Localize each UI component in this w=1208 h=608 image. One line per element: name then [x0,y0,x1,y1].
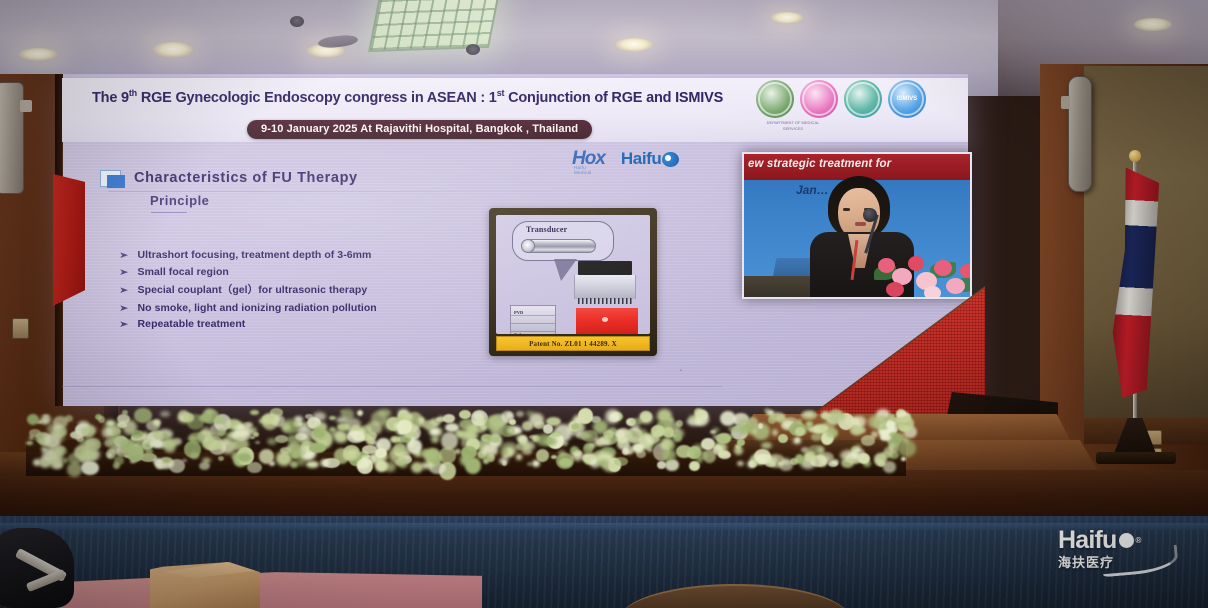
hedge-tuft [218,428,226,436]
gel-sample-block: PVD Gel [510,305,556,334]
hox-logo-subtext: Haifu Medical [574,165,605,175]
hedge-tuft [267,438,277,445]
downlight-5 [770,12,804,24]
bullet-arrow-icon: ➤ [119,320,129,329]
hedge-tuft [63,458,68,462]
hedge-tuft [823,421,834,430]
hedge-tuft [826,428,838,437]
hedge-tuft [189,432,205,444]
hedge-tuft [490,436,501,444]
list-item: ➤Ultrashort focusing, treatment depth of… [120,249,500,261]
gel-label-top: PVD [514,310,523,315]
bullet-arrow-icon: ➤ [119,251,129,260]
hedge-tuft [716,433,732,445]
hedge-tuft [459,410,470,419]
hedge-tuft [218,456,225,461]
bullet-text: Repeatable treatment [138,318,246,330]
hedge-tuft [516,411,524,417]
hedge-tuft [183,413,194,422]
hedge-tuft [768,416,776,424]
list-item: ➤Repeatable treatment [120,318,500,330]
hedge-tuft [614,457,628,466]
ceiling-vent-1 [290,16,304,27]
live-video-feed-panel: ew strategic treatment for Jan… – 10, 20… [742,152,972,299]
flag-base-plate [1096,452,1176,464]
hedge-tuft [544,437,557,446]
hedge-tuft [828,461,838,467]
hedge-tuft [253,432,258,437]
haifu-logo-text: Haifu [621,149,662,169]
hedge-tuft [811,433,822,441]
logo-caption: DEPARTMENT OF MEDICAL SERVICES [758,120,828,132]
hedge-tuft [630,418,643,425]
hedge-tuft [160,411,170,417]
right-wall-speaker [1068,76,1092,192]
hedge-tuft [114,456,124,465]
hedge-tuft [290,461,298,468]
haifu-swoosh-icon [662,152,679,167]
hedge-tuft [898,440,916,457]
hedge-tuft [357,410,364,417]
hedge-tuft [761,442,772,448]
right-speaker-mount [1061,96,1070,109]
hedge-tuft [127,446,144,462]
transducer-cap [521,239,535,253]
slide-sub-title: Principle [150,193,209,208]
hedge-tuft [418,417,425,423]
bullet-text: Small focal region [138,266,229,278]
watermark-dot-icon [1119,533,1134,548]
hedge-tuft [394,443,405,453]
hedge-tuft [150,440,163,447]
hedge-tuft [499,458,508,463]
hedge-tuft [334,431,348,443]
list-item: ➤No smoke, light and ionizing radiation … [120,302,500,314]
conference-hall-photo: The 9th RGE Gynecologic Endoscopy congre… [0,0,1208,608]
haifu-logo: Haifu [621,149,680,169]
slide-date-banner: 9-10 January 2025 At Rajavithi Hospital,… [247,120,592,139]
hedge-tuft [584,433,592,437]
hedge-tuft [422,449,430,457]
downlight-2 [152,42,194,58]
hedge-tuft [776,415,786,423]
section-underline [108,191,708,192]
hedge-tuft [719,450,729,456]
patent-number-text: Patent No. ZL01 1 44289. X [529,340,617,348]
hedge-tuft [500,425,515,437]
video-flower-arrangement [872,252,972,299]
hedge-tuft [131,430,144,437]
video-speaker-eye-left [843,208,850,211]
list-item: ➤Special couplant（gel）for ultrasonic the… [120,282,500,297]
ismivs-logo-icon: ISMIVS [888,80,926,118]
red-panel-left [53,174,85,306]
rge-logo-icon [800,80,838,118]
hedge-tuft [98,416,105,423]
hedge-tuft [76,436,84,442]
hedge-tuft [605,409,620,424]
hedge-tuft [797,419,802,423]
slide-title-ordinal-th: th [129,88,137,98]
hedge-tuft [880,434,891,441]
patent-bar: Patent No. ZL01 1 44289. X [496,336,650,351]
haifu-watermark: Haifu ® 海扶医疗 [1058,528,1141,569]
hedge-tuft [571,423,580,430]
hedge-tuft [234,424,251,437]
hedge-tuft [522,421,533,431]
hedge-tuft [65,415,74,422]
hedge-tuft [767,457,778,464]
brand-logo-row: HoxHaifu Medical Haifu [572,148,679,170]
slide-title: The 9th RGE Gynecologic Endoscopy congre… [92,88,762,106]
organization-logo-row: ISMIVS [756,80,926,118]
hedge-tuft [430,418,441,426]
hedge-tuft [670,434,675,438]
hedge-tuft [818,461,827,467]
hedge-tuft [329,416,336,420]
gel-label-bottom: Gel [514,332,521,334]
hedge-tuft [806,421,814,426]
watermark-registered-mark: ® [1136,537,1141,545]
bullet-text: No smoke, light and ionizing radiation p… [138,302,377,314]
bullet-text: Ultrashort focusing, treatment depth of … [138,249,372,261]
hedge-tuft [465,457,481,474]
hedge-tuft [485,416,501,431]
left-wall-outlet [12,318,29,339]
bullet-arrow-icon: ➤ [119,268,129,277]
slide-bottom-rule [62,386,722,387]
carpet-stripe [0,523,1208,530]
hedge-tuft [145,448,153,454]
hedge-tuft [626,450,633,454]
hedge-tuft [33,459,41,466]
hedge-tuft [801,410,817,419]
hedge-tuft [808,445,823,455]
hedge-tuft [596,439,603,445]
hedge-tuft [398,458,407,468]
hedge-tuft [117,414,130,425]
hedge-tuft [883,461,896,473]
asean-globe-logo-icon [844,80,882,118]
slide-title-prefix: The 9 [92,90,129,106]
hedge-tuft [516,442,530,451]
hedge-tuft [255,441,260,444]
probe-body [574,275,636,299]
hedge-tuft [357,458,373,474]
hedge-tuft [309,443,325,453]
dms-logo-icon [756,80,794,118]
hedge-tuft [81,461,99,475]
hedge-tuft [546,417,561,426]
bullet-text: Special couplant（gel）for ultrasonic ther… [138,282,368,297]
sub-title-underline [151,212,187,213]
hedge-tuft [52,429,65,437]
bullet-arrow-icon: ➤ [119,286,129,295]
hedge-tuft [809,426,821,433]
hedge-tuft [821,411,829,419]
hedge-tuft [336,417,348,423]
hedge-tuft [153,458,160,465]
hox-logo: HoxHaifu Medical [572,148,605,170]
hedge-tuft [861,435,875,445]
transducer-figure: Transducer PVD Gel Patent No. ZL01 1 442… [489,208,657,356]
hedge-tuft [500,449,508,455]
hedge-tuft [593,420,607,434]
hedge-tuft [536,449,549,462]
transducer-figure-canvas: Transducer PVD Gel [496,215,650,334]
hedge-tuft [551,431,561,438]
hedge-tuft [661,438,672,449]
hedge-tuft [250,410,259,416]
hedge-tuft [778,434,788,444]
hedge-tuft [439,447,456,463]
left-speaker-mount [20,100,32,112]
probe-housing-top [578,261,632,275]
video-microphone-head [863,208,877,222]
hedge-tuft [306,461,319,468]
hedge-tuft [737,419,754,435]
hedge-tuft [572,451,583,461]
hedge-tuft [737,461,744,466]
hedge-tuft [509,419,516,424]
hedge-tuft [758,423,763,428]
hedge-tuft [516,454,522,460]
hedge-tuft [657,461,666,469]
hedge-tuft [430,428,440,434]
hedge-tuft [583,444,593,454]
hedge-tuft [676,420,683,427]
hedge-tuft [305,414,313,419]
ismivs-logo-text: ISMIVS [896,88,918,110]
slide-title-middle: RGE Gynecologic Endoscopy congress in AS… [137,90,497,106]
hedge-tuft [772,429,778,435]
hedge-tuft [85,438,101,451]
hedge-tuft [366,421,383,435]
hedge-tuft [85,426,98,434]
video-speaker-mouth [855,222,866,226]
ceiling-vent-2 [466,44,480,55]
hedge-tuft [247,462,262,473]
hedge-tuft [134,408,152,423]
list-item: ➤Small focal region [120,266,500,278]
hedge-tuft [484,455,492,461]
slide-title-suffix: Conjunction of RGE and ISMIVS [504,90,723,106]
hedge-tuft [694,451,709,459]
hedge-tuft [431,436,439,443]
slide-section-title: Characteristics of FU Therapy [134,170,358,186]
hedge-tuft [901,457,907,461]
hedge-tuft [199,414,212,422]
hedge-tuft [476,417,483,425]
probe-array-teeth [578,298,632,304]
hedge-tuft [397,420,412,434]
hedge-tuft [421,462,433,469]
tissue-phantom-red [576,308,638,334]
slide-bullet-list: ➤Ultrashort focusing, treatment depth of… [120,249,500,335]
transducer-callout-label: Transducer [526,225,567,234]
hedge-tuft [259,449,274,463]
watermark-brand-text: Haifu [1058,528,1117,553]
floral-hedge-decoration [26,408,906,474]
downlight-1 [18,48,58,61]
hedge-tuft [384,462,396,473]
downlight-6 [1134,18,1172,31]
hedge-tuft [199,462,210,470]
hedge-tuft [311,428,325,438]
hedge-tuft [793,438,801,444]
left-wall-speaker [0,82,24,194]
hedge-tuft [27,414,39,425]
hedge-tuft [102,427,113,438]
hedge-tuft [297,425,312,438]
hedge-tuft [737,439,746,446]
hedge-tuft [221,438,229,446]
hedge-tuft [506,412,513,419]
hedge-tuft [710,430,716,434]
section-bullet-marker-icon [100,170,121,187]
stage-front-face [0,470,1208,520]
flag-finial-icon [1129,150,1141,162]
hedge-tuft [841,458,853,468]
hedge-tuft [850,425,862,434]
hedge-tuft [888,444,895,450]
hedge-tuft [334,448,349,463]
hedge-tuft [313,412,327,421]
hedge-tuft [347,431,365,444]
bullet-arrow-icon: ➤ [119,304,129,313]
fluorescent-grille-light [368,0,500,52]
slide-footnote: • [680,368,682,374]
hedge-tuft [282,419,298,434]
downlight-4 [614,38,654,52]
hedge-tuft [26,441,33,446]
video-banner-text: ew strategic treatment for [748,158,891,170]
hedge-tuft [728,426,738,432]
hedge-tuft [270,408,283,416]
